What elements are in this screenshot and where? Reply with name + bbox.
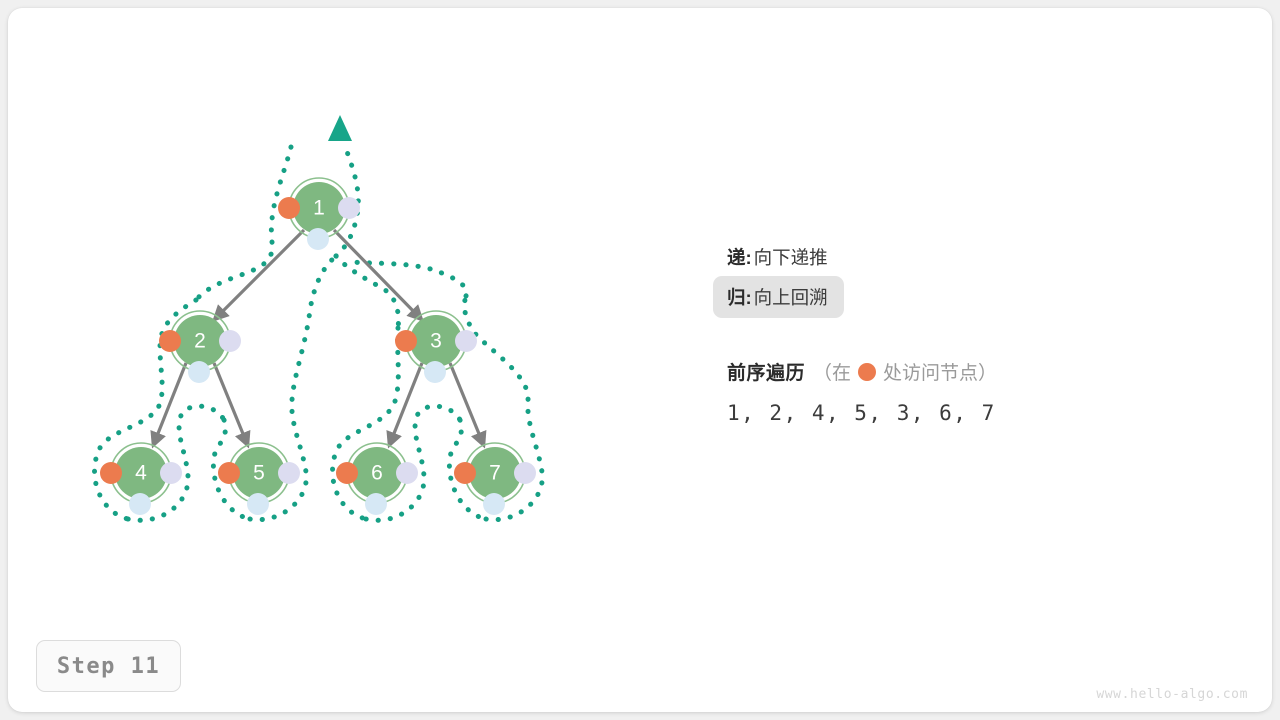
node-visit-dot: [218, 462, 240, 484]
tree-node-1: 1: [278, 178, 360, 250]
node-right-dot: [219, 330, 241, 352]
site-watermark: www.hello-algo.com: [1096, 687, 1248, 702]
node-bottom-dot: [307, 228, 329, 250]
traversal-order-block: 前序遍历 （在 处访问节点） 1, 2, 4, 5, 3, 6, 7: [727, 358, 1197, 425]
traversal-order-title: 前序遍历 （在 处访问节点）: [727, 358, 1197, 385]
tree-node-4: 4: [100, 443, 182, 515]
legend-value-descend: 向下递推: [754, 244, 828, 270]
legend-key-descend: 递:: [727, 244, 752, 270]
tree-node-2: 2: [159, 311, 241, 383]
node-visit-dot: [159, 330, 181, 352]
node-bottom-dot: [483, 493, 505, 515]
node-label: 1: [313, 197, 325, 220]
node-right-dot: [514, 462, 536, 484]
traversal-paren-close: 处访问节点）: [883, 358, 997, 385]
node-visit-dot: [395, 330, 417, 352]
node-bottom-dot: [129, 493, 151, 515]
edge-3-7: [450, 363, 484, 446]
node-right-dot: [160, 462, 182, 484]
node-visit-dot: [100, 462, 122, 484]
node-label: 6: [371, 462, 383, 485]
node-visit-dot: [336, 462, 358, 484]
traversal-name: 前序遍历: [727, 358, 805, 385]
node-visit-dot: [454, 462, 476, 484]
tree-node-5: 5: [218, 443, 300, 515]
edge-3-6: [389, 363, 422, 446]
screenshot-stage: 1234567 递: 向下递推 归: 向上回溯 前序遍历 （在 处访问节点） 1…: [0, 0, 1280, 720]
node-bottom-dot: [247, 493, 269, 515]
node-right-dot: [278, 462, 300, 484]
node-bottom-dot: [424, 361, 446, 383]
step-badge: Step 11: [36, 640, 181, 692]
legend-key-backtrack: 归:: [727, 284, 752, 310]
node-visit-dot: [278, 197, 300, 219]
node-label: 5: [253, 462, 265, 485]
up-triangle-marker: [328, 115, 352, 141]
node-bottom-dot: [188, 361, 210, 383]
edge-1-3: [334, 230, 422, 320]
node-right-dot: [338, 197, 360, 219]
tree-node-3: 3: [395, 311, 477, 383]
tree-nodes: 1234567: [100, 178, 536, 515]
legend-row-backtrack: 归: 向上回溯: [713, 276, 844, 318]
traversal-paren-open: （在: [813, 358, 851, 385]
node-label: 2: [194, 330, 206, 353]
orange-dot-icon: [858, 363, 876, 381]
edge-1-2: [214, 230, 304, 320]
tree-node-6: 6: [336, 443, 418, 515]
node-bottom-dot: [365, 493, 387, 515]
node-label: 3: [430, 330, 442, 353]
traversal-sequence: 1, 2, 4, 5, 3, 6, 7: [727, 401, 1197, 425]
edge-2-5: [214, 363, 248, 446]
node-label: 4: [135, 462, 147, 485]
node-label: 7: [489, 462, 501, 485]
node-right-dot: [396, 462, 418, 484]
legend-panel: 递: 向下递推 归: 向上回溯: [727, 238, 1167, 318]
legend-row-descend: 递: 向下递推: [727, 238, 1167, 276]
node-right-dot: [455, 330, 477, 352]
legend-value-backtrack: 向上回溯: [754, 284, 828, 310]
tree-node-7: 7: [454, 443, 536, 515]
